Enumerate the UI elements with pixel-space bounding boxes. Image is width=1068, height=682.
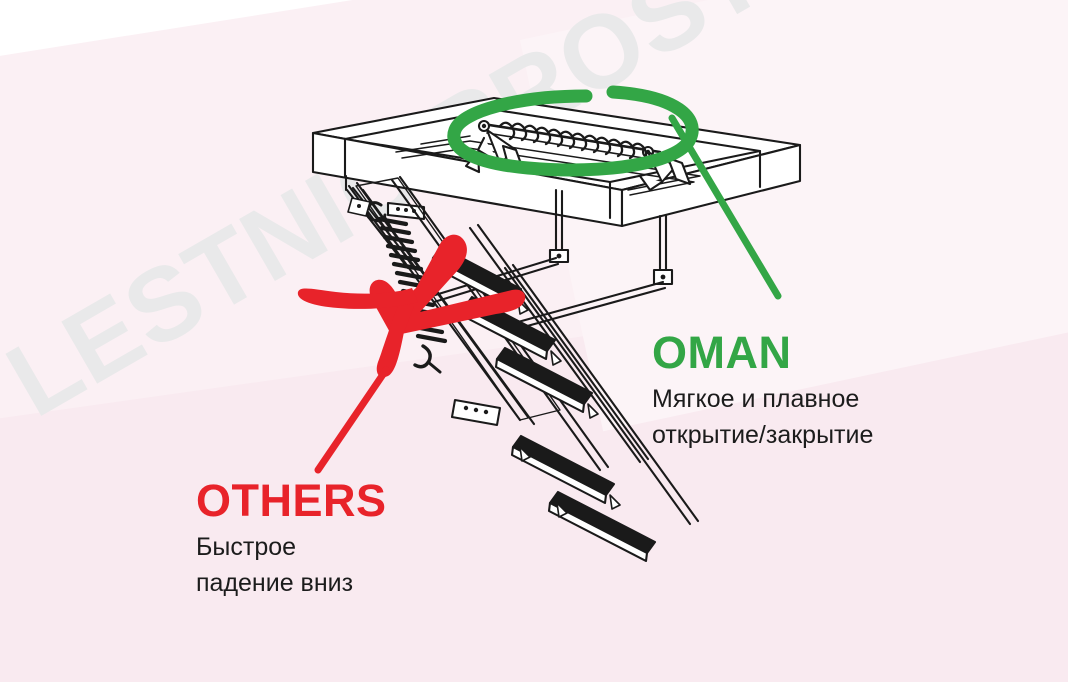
ladder-assembly [349, 177, 698, 524]
corner-gussets [348, 198, 370, 216]
others-description-line-1: Быстрое [196, 529, 387, 565]
oman-description: Мягкое и плавное открытие/закрытие [652, 381, 873, 454]
strut-end-fittings [550, 250, 672, 284]
oman-description-line-1: Мягкое и плавное [652, 381, 873, 417]
others-description: Быстрое падение вниз [196, 529, 387, 602]
ladder-link-plate [452, 400, 500, 425]
illustration-canvas: LESTNIC-PROSTO.RU [0, 0, 1068, 682]
callout-oman: OMAN Мягкое и плавное открытие/закрытие [652, 330, 873, 454]
others-description-line-2: падение вниз [196, 565, 387, 601]
ladder-technical-drawing [0, 0, 1068, 682]
oman-headline: OMAN [652, 330, 873, 375]
callout-others: OTHERS Быстрое падение вниз [196, 478, 387, 602]
oman-description-line-2: открытие/закрытие [652, 417, 873, 453]
others-headline: OTHERS [196, 478, 387, 523]
